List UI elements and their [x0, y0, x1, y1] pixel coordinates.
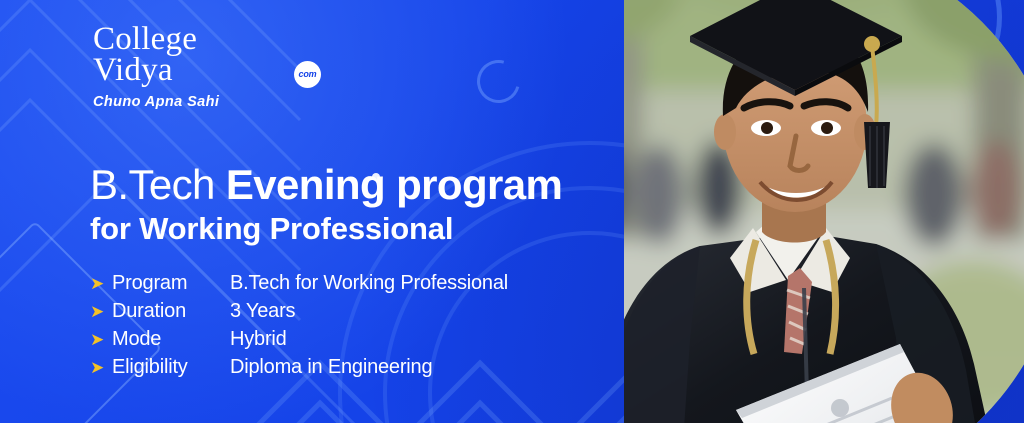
- spec-value-duration: 3 Years: [230, 300, 295, 323]
- spec-value-mode: Hybrid: [230, 328, 287, 351]
- spec-label-duration: Duration: [112, 300, 230, 323]
- list-item: ➤ Program B.Tech for Working Professiona…: [90, 272, 508, 300]
- spec-value-program: B.Tech for Working Professional: [230, 272, 508, 295]
- spec-label-eligibility: Eligibility: [112, 356, 230, 379]
- graduate-photo-panel: [624, 0, 1024, 423]
- spec-label-mode: Mode: [112, 328, 230, 351]
- collegevidya-logo[interactable]: College Vidya com Chuno Apna Sahi: [93, 24, 293, 110]
- headline-line-1: B.Tech Evening program: [90, 160, 562, 209]
- headline-block: B.Tech Evening program for Working Profe…: [90, 160, 562, 249]
- arrow-bullet-icon: ➤: [90, 359, 112, 376]
- list-item: ➤ Mode Hybrid: [90, 328, 508, 356]
- logo-tagline: Chuno Apna Sahi: [93, 94, 293, 110]
- list-item: ➤ Duration 3 Years: [90, 300, 508, 328]
- arrow-bullet-icon: ➤: [90, 331, 112, 348]
- list-item: ➤ Eligibility Diploma in Engineering: [90, 356, 508, 384]
- headline-program-name: B.Tech: [90, 161, 226, 208]
- photo-circular-mask: [624, 0, 1024, 423]
- program-spec-list: ➤ Program B.Tech for Working Professiona…: [90, 272, 508, 384]
- arrow-bullet-icon: ➤: [90, 275, 112, 292]
- logo-line-college: College: [93, 24, 293, 55]
- arrow-bullet-icon: ➤: [90, 303, 112, 320]
- spec-value-eligibility: Diploma in Engineering: [230, 356, 432, 379]
- promo-banner: College Vidya com Chuno Apna Sahi B.Tech…: [0, 0, 1024, 423]
- graduate-photo: [624, 0, 1024, 423]
- headline-line-2: for Working Professional: [90, 209, 562, 249]
- spec-label-program: Program: [112, 272, 230, 295]
- logo-line-vidya: Vidya: [93, 55, 173, 86]
- logo-dotcom-badge: com: [294, 61, 321, 88]
- headline-emphasis: Evening program: [226, 161, 562, 208]
